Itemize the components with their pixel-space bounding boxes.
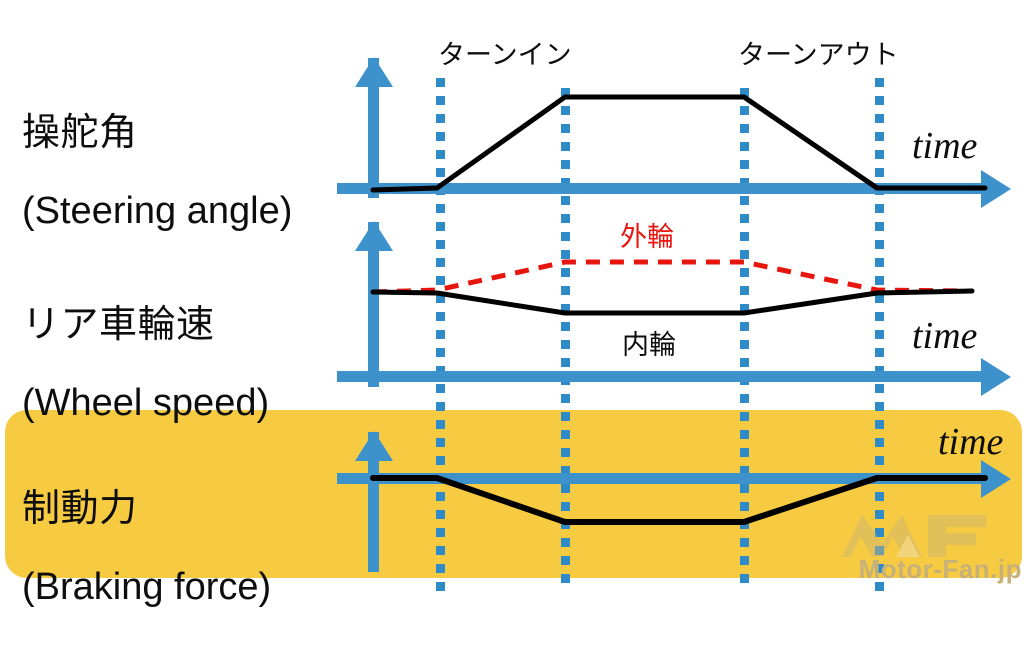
annotation-turn-out: ターンアウト [738,33,899,72]
time-axis-label-steering-angle: time [912,124,977,168]
row-label-wheel-speed: リア車輪速 (Wheel speed) [22,268,269,461]
steering-angle-y-axis [368,58,379,198]
row-label-braking-force: 制動力 (Braking force) [22,452,271,645]
time-axis-label-braking-force: time [938,420,1003,464]
row-label-braking-force-en: (Braking force) [22,566,271,609]
wheel-speed-x-axis [337,371,985,382]
row-label-braking-force-jp: 制動力 [22,488,271,531]
steering-angle-x-axis [337,183,985,194]
event-guide-2 [561,88,570,591]
braking-force-x-axis [337,473,985,484]
event-guide-turn-in [436,78,445,591]
series-tag-outer-wheel: 外輪 [620,215,674,254]
row-label-steering-angle: 操舵角 (Steering angle) [22,76,292,269]
steering-angle-curve [373,97,985,190]
figure-canvas: 操舵角 (Steering angle) リア車輪速 (Wheel speed)… [0,0,1034,591]
annotation-turn-in: ターンイン [438,33,572,72]
series-tag-inner-wheel: 内輪 [622,323,676,362]
row-label-wheel-speed-jp: リア車輪速 [22,304,269,347]
braking-force-y-axis [368,432,379,572]
row-label-steering-angle-en: (Steering angle) [22,190,292,233]
row-label-steering-angle-jp: 操舵角 [22,112,292,155]
row-label-wheel-speed-en: (Wheel speed) [22,382,269,425]
event-guide-turn-out [740,88,749,591]
watermark-text: Motor-Fan.jp [859,554,1022,585]
time-axis-label-wheel-speed: time [912,314,977,358]
wheel-speed-y-axis [368,222,379,387]
